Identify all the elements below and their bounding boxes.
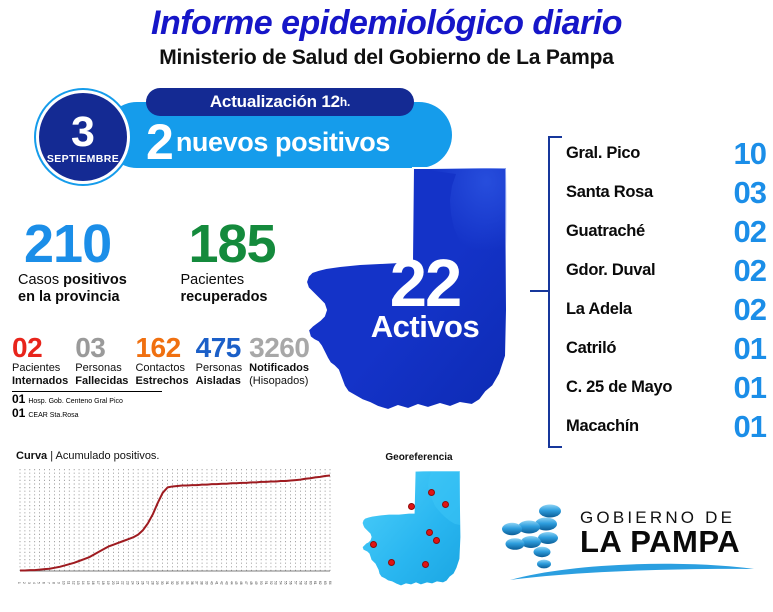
stat-internados-line2: Internados: [12, 375, 68, 387]
city-count: 10: [734, 139, 766, 169]
stat-internados-value: 02: [12, 334, 68, 361]
georeference-case-dot: [442, 501, 449, 508]
stat-estrechos-line2: Estrechos: [135, 375, 188, 387]
city-breakdown-list: Gral. Pico 10 Santa Rosa 03 Guatraché 02…: [566, 134, 766, 446]
city-name: Catriló: [566, 339, 616, 358]
city-name: La Adela: [566, 300, 632, 319]
georeference-panel: Georeferencia: [360, 452, 510, 607]
city-count: 01: [734, 373, 766, 403]
page-title: Informe epidemiológico diario: [0, 4, 773, 43]
city-name: Guatraché: [566, 222, 645, 241]
city-name: C. 25 de Mayo: [566, 378, 672, 397]
casos-word: Casos: [18, 272, 63, 288]
recuperados-line1: Pacientes: [180, 272, 244, 288]
city-count: 01: [734, 334, 766, 364]
stat-fallecidas-label: Personas Fallecidas: [75, 362, 128, 387]
curve-chart-title-rest: | Acumulado positivos.: [47, 450, 159, 462]
logo-text-block: GOBIERNO DE LA PAMPA: [580, 508, 740, 558]
stat-internados-label: Pacientes Internados: [12, 362, 68, 387]
list-item: La Adela 02: [566, 290, 766, 329]
province-map-shape: [300, 160, 550, 445]
stat-fallecidas-line1: Personas: [75, 362, 121, 374]
stat-estrechos-value: 162: [135, 334, 188, 361]
stat-fallecidas-value: 03: [75, 334, 128, 361]
stats-row: 02 Pacientes Internados 03 Personas Fall…: [12, 334, 342, 387]
city-name: Macachín: [566, 417, 639, 436]
positivos-word: positivos: [63, 272, 127, 288]
georeference-case-dot: [370, 541, 377, 548]
logo-swoosh-icon: [504, 560, 759, 582]
metric-casos-positivos: 210 Casos positivos en la provincia: [18, 218, 170, 306]
stat-aisladas-label: Personas Aisladas: [196, 362, 242, 387]
city-count: 02: [734, 256, 766, 286]
new-cases-count: 2: [146, 119, 174, 165]
stat-estrechos-label: Contactos Estrechos: [135, 362, 188, 387]
footnote-num: 01: [12, 394, 25, 405]
city-count: 01: [734, 412, 766, 442]
date-badge: 3 SEPTIEMBRE: [36, 90, 130, 184]
stat-aisladas-line2: Aisladas: [196, 375, 241, 387]
new-cases-label: nuevos positivos: [176, 127, 390, 158]
curve-chart-plot: [16, 467, 332, 575]
update-label-text: Actualización 12: [210, 92, 340, 112]
list-item: Gral. Pico 10: [566, 134, 766, 173]
city-count: 02: [734, 295, 766, 325]
metric-casos-positivos-value: 210: [18, 218, 170, 270]
metric-recuperados-value: 185: [174, 218, 294, 270]
georeference-case-dot: [428, 489, 435, 496]
footnote-row: 01 Hosp. Gob. Centeno Gral Pico: [12, 394, 162, 407]
city-count: 02: [734, 217, 766, 247]
recuperados-line2: recuperados: [180, 289, 267, 305]
curve-chart-svg: [16, 467, 332, 575]
stat-fallecidas-line2: Fallecidas: [75, 375, 128, 387]
georeference-case-dot: [388, 559, 395, 566]
x-tick-label: 64: [327, 575, 332, 591]
date-day: 3: [71, 114, 95, 150]
georeference-map-shape: [360, 467, 480, 597]
update-label-unit: h.: [340, 95, 350, 109]
curve-chart-title: Curva | Acumulado positivos.: [16, 450, 336, 462]
internados-footnote: 01 Hosp. Gob. Centeno Gral Pico 01 CEAR …: [12, 391, 162, 422]
logo-line-lapampa: LA PAMPA: [580, 526, 740, 558]
stat-internados-line1: Pacientes: [12, 362, 60, 374]
page-subtitle: Ministerio de Salud del Gobierno de La P…: [0, 46, 773, 70]
curve-chart: Curva | Acumulado positivos. 12345678910…: [16, 450, 336, 605]
update-label-pill: Actualización 12h.: [146, 88, 414, 116]
stat-aisladas-line1: Personas: [196, 362, 242, 374]
date-month: SEPTIEMBRE: [47, 153, 119, 165]
georeference-case-dot: [408, 503, 415, 510]
georeference-case-dot: [422, 561, 429, 568]
metric-recuperados-label: Pacientes recuperados: [174, 272, 294, 306]
curve-chart-x-axis-labels: 1234567891011121314151617181920212223242…: [16, 575, 332, 591]
casos-line2: en la provincia: [18, 289, 120, 305]
georeference-title: Georeferencia: [360, 452, 478, 463]
footnote-text: Hosp. Gob. Centeno Gral Pico: [28, 396, 123, 407]
footnote-row: 01 CEAR Sta.Rosa: [12, 408, 162, 421]
curve-series-line: [20, 476, 330, 571]
stat-estrechos: 162 Contactos Estrechos: [135, 334, 195, 387]
stat-fallecidas: 03 Personas Fallecidas: [75, 334, 135, 387]
city-list-bracket: [548, 136, 562, 448]
stat-internados: 02 Pacientes Internados: [12, 334, 75, 387]
footnote-num: 01: [12, 408, 25, 419]
gobierno-la-pampa-logo: GOBIERNO DE LA PAMPA: [498, 498, 763, 583]
list-item: Catriló 01: [566, 329, 766, 368]
city-name: Santa Rosa: [566, 183, 653, 202]
georeference-map: [360, 467, 480, 597]
stat-aisladas: 475 Personas Aisladas: [196, 334, 249, 387]
list-item: Gdor. Duval 02: [566, 251, 766, 290]
province-map: 22 Activos: [300, 160, 550, 445]
georeference-case-dot: [433, 537, 440, 544]
list-item: Santa Rosa 03: [566, 173, 766, 212]
infographic-root: Informe epidemiológico diario Ministerio…: [0, 0, 773, 612]
metric-recuperados: 185 Pacientes recuperados: [174, 218, 294, 306]
footnote-text: CEAR Sta.Rosa: [28, 410, 78, 421]
curve-chart-title-strong: Curva: [16, 450, 47, 462]
metric-casos-positivos-label: Casos positivos en la provincia: [18, 272, 170, 306]
georeference-case-dot: [426, 529, 433, 536]
update-banner: Actualización 12h. 3 SEPTIEMBRE 2 nuevos…: [36, 88, 426, 174]
city-count: 03: [734, 178, 766, 208]
city-name: Gral. Pico: [566, 144, 640, 163]
city-name: Gdor. Duval: [566, 261, 655, 280]
stat-estrechos-line1: Contactos: [135, 362, 185, 374]
big-numbers-group: 210 Casos positivos en la provincia 185 …: [18, 218, 298, 306]
stat-aisladas-value: 475: [196, 334, 242, 361]
list-item: C. 25 de Mayo 01: [566, 368, 766, 407]
list-item: Guatraché 02: [566, 212, 766, 251]
city-list-bracket-stem: [530, 290, 550, 292]
list-item: Macachín 01: [566, 407, 766, 446]
new-cases-line: 2 nuevos positivos: [146, 116, 446, 168]
